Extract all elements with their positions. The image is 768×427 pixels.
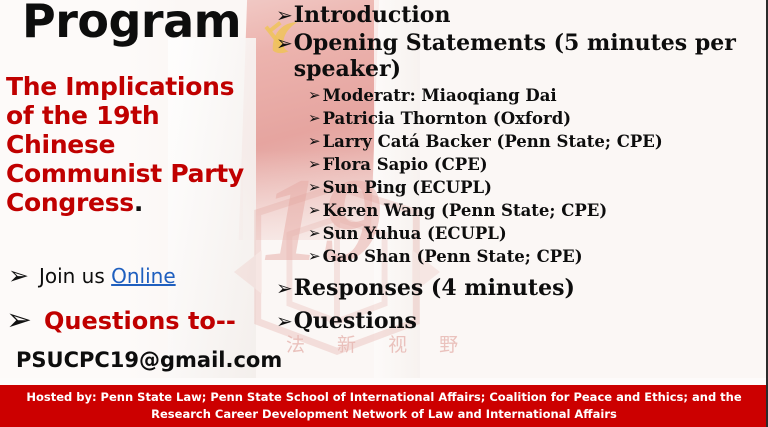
arrow-bullet-icon: ➢ xyxy=(276,308,293,334)
arrow-bullet-icon: ➢ xyxy=(308,153,321,176)
join-us-label: Join us Online xyxy=(39,264,176,288)
arrow-bullet-icon: ➢ xyxy=(6,305,32,336)
speaker-label: Sun Ping (ECUPL) xyxy=(323,176,764,199)
arrow-bullet-icon: ➢ xyxy=(308,245,321,268)
left-column: Program The Implications of the 19th Chi… xyxy=(0,0,272,380)
agenda-item-opening-statements: ➢ Opening Statements (5 minutes per spea… xyxy=(276,30,764,82)
footer-line-2: Research Career Development Network of L… xyxy=(151,406,617,423)
footer-banner: Hosted by: Penn State Law; Penn State Sc… xyxy=(0,385,768,427)
subject-title-text: The Implications of the 19th Chinese Com… xyxy=(6,72,244,217)
subject-title-period: . xyxy=(134,188,143,217)
speaker-item: ➢ Flora Sapio (CPE) xyxy=(308,153,764,176)
subject-title: The Implications of the 19th Chinese Com… xyxy=(6,72,268,217)
arrow-bullet-icon: ➢ xyxy=(276,275,293,301)
arrow-bullet-icon: ➢ xyxy=(308,84,321,107)
arrow-bullet-icon: ➢ xyxy=(308,107,321,130)
speaker-label: Sun Yuhua (ECUPL) xyxy=(323,222,764,245)
arrow-bullet-icon: ➢ xyxy=(276,2,293,28)
speaker-item: ➢ Sun Yuhua (ECUPL) xyxy=(308,222,764,245)
speaker-label: Keren Wang (Penn State; CPE) xyxy=(323,199,764,222)
agenda-item-label: Questions xyxy=(294,308,764,334)
agenda-item-introduction: ➢ Introduction xyxy=(276,2,764,28)
arrow-bullet-icon: ➢ xyxy=(308,176,321,199)
speaker-label: Moderatr: Miaoqiang Dai xyxy=(323,84,764,107)
join-us-row: ➢ Join us Online xyxy=(8,263,176,288)
agenda-item-responses: ➢ Responses (4 minutes) xyxy=(276,275,764,301)
speaker-list: ➢ Moderatr: Miaoqiang Dai ➢ Patricia Tho… xyxy=(276,84,764,268)
page-title: Program xyxy=(22,0,241,48)
speaker-item: ➢ Patricia Thornton (Oxford) xyxy=(308,107,764,130)
agenda-list: ➢ Introduction ➢ Opening Statements (5 m… xyxy=(276,2,764,336)
speaker-label: Larry Catá Backer (Penn State; CPE) xyxy=(323,130,764,153)
arrow-bullet-icon: ➢ xyxy=(276,30,293,56)
join-us-prefix: Join us xyxy=(39,264,111,288)
speaker-label: Patricia Thornton (Oxford) xyxy=(323,107,764,130)
questions-to-row: ➢ Questions to-- xyxy=(6,305,236,336)
questions-to-label: Questions to-- xyxy=(44,307,236,335)
speaker-label: Gao Shan (Penn State; CPE) xyxy=(323,245,764,268)
speaker-label: Flora Sapio (CPE) xyxy=(323,153,764,176)
arrow-bullet-icon: ➢ xyxy=(308,199,321,222)
arrow-bullet-icon: ➢ xyxy=(8,263,29,288)
speaker-item: ➢ Sun Ping (ECUPL) xyxy=(308,176,764,199)
footer-spacer xyxy=(0,378,768,385)
contact-email[interactable]: PSUCPC19@gmail.com xyxy=(16,348,282,372)
speaker-item-moderator: ➢ Moderatr: Miaoqiang Dai xyxy=(308,84,764,107)
speaker-item: ➢ Larry Catá Backer (Penn State; CPE) xyxy=(308,130,764,153)
agenda-item-questions: ➢ Questions xyxy=(276,308,764,334)
agenda-item-label: Opening Statements (5 minutes per speake… xyxy=(294,30,764,82)
agenda-item-label: Introduction xyxy=(294,2,764,28)
presentation-slide: 19 法 新 视 野 Program The Implications of t… xyxy=(0,0,768,427)
speaker-item: ➢ Gao Shan (Penn State; CPE) xyxy=(308,245,764,268)
speaker-item: ➢ Keren Wang (Penn State; CPE) xyxy=(308,199,764,222)
arrow-bullet-icon: ➢ xyxy=(308,130,321,153)
online-link[interactable]: Online xyxy=(111,264,176,288)
footer-line-1: Hosted by: Penn State Law; Penn State Sc… xyxy=(26,389,741,406)
agenda-item-label: Responses (4 minutes) xyxy=(294,275,764,301)
arrow-bullet-icon: ➢ xyxy=(308,222,321,245)
